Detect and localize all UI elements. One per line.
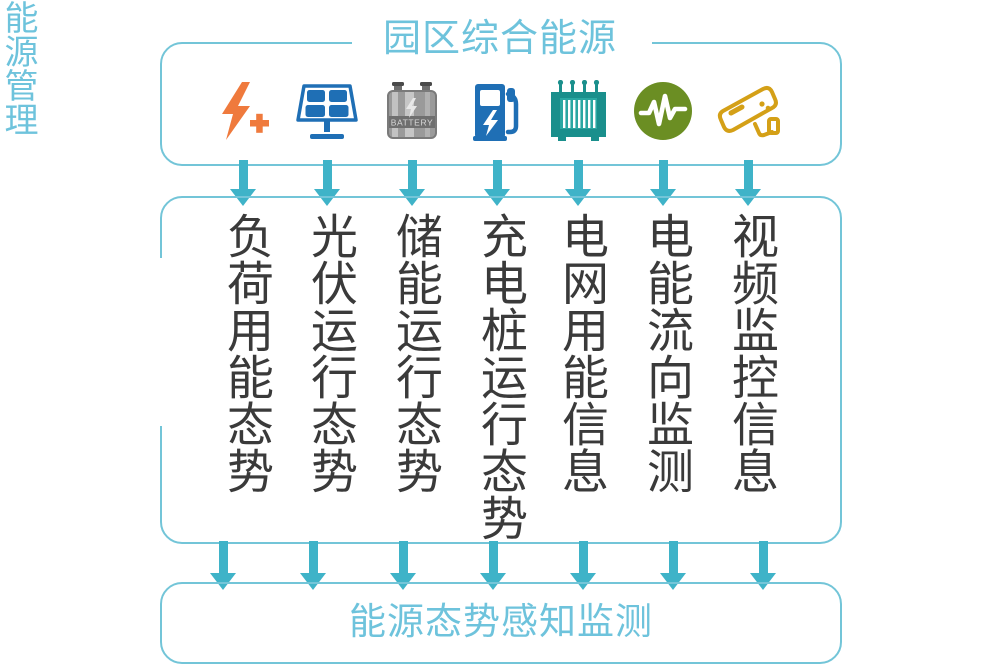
column-label-load: 负荷用能态势 <box>214 212 272 494</box>
icon-cell-energy-flow[interactable] <box>628 78 698 144</box>
column-label-video: 视频监控信息 <box>719 212 777 494</box>
arrow-shaft <box>669 541 678 574</box>
icon-cell-load[interactable] <box>208 78 278 144</box>
diagram-canvas: 园区综合能源 <box>0 0 1000 665</box>
arrow-shaft <box>493 160 502 190</box>
icon-cell-storage[interactable]: BATTERY <box>377 78 447 144</box>
battery-icon: BATTERY <box>381 80 443 142</box>
column-label-grid: 电网用能信息 <box>549 212 607 494</box>
solar-panel-icon <box>294 80 360 142</box>
arrow-shaft <box>579 541 588 574</box>
arrow-shaft <box>759 541 768 574</box>
arrow-shaft <box>489 541 498 574</box>
transformer-icon <box>545 80 611 142</box>
arrow-shaft <box>323 160 332 190</box>
lightning-plus-icon <box>212 80 274 142</box>
top-box-title: 园区综合能源 <box>0 20 1000 58</box>
svg-text:BATTERY: BATTERY <box>391 118 434 128</box>
arrow-shaft <box>399 541 408 574</box>
arrow-shaft <box>408 160 417 190</box>
icon-cell-ev-charger[interactable] <box>462 78 532 144</box>
ev-charger-icon <box>467 80 527 142</box>
column-label-solar: 光伏运行态势 <box>298 212 356 494</box>
side-title-border-gap <box>152 258 172 426</box>
arrow-shaft <box>574 160 583 190</box>
arrow-shaft <box>219 541 228 574</box>
pulse-circle-icon <box>632 80 694 142</box>
icon-cell-grid[interactable] <box>543 78 613 144</box>
icon-cell-video[interactable] <box>713 78 783 144</box>
arrow-shaft <box>309 541 318 574</box>
column-label-energy-flow: 电能流向监测 <box>634 212 692 494</box>
bottom-box-title: 能源态势感知监测 <box>160 603 842 640</box>
icon-cell-solar[interactable] <box>292 78 362 144</box>
energy-source-icon-row: BATTERY <box>160 78 842 144</box>
arrow-shaft <box>659 160 668 190</box>
arrow-shaft <box>744 160 753 190</box>
cctv-camera-icon <box>715 80 781 142</box>
column-label-ev-charger: 充电桩运行态势 <box>468 212 526 541</box>
column-label-storage: 储能运行态势 <box>383 212 441 494</box>
arrow-shaft <box>239 160 248 190</box>
